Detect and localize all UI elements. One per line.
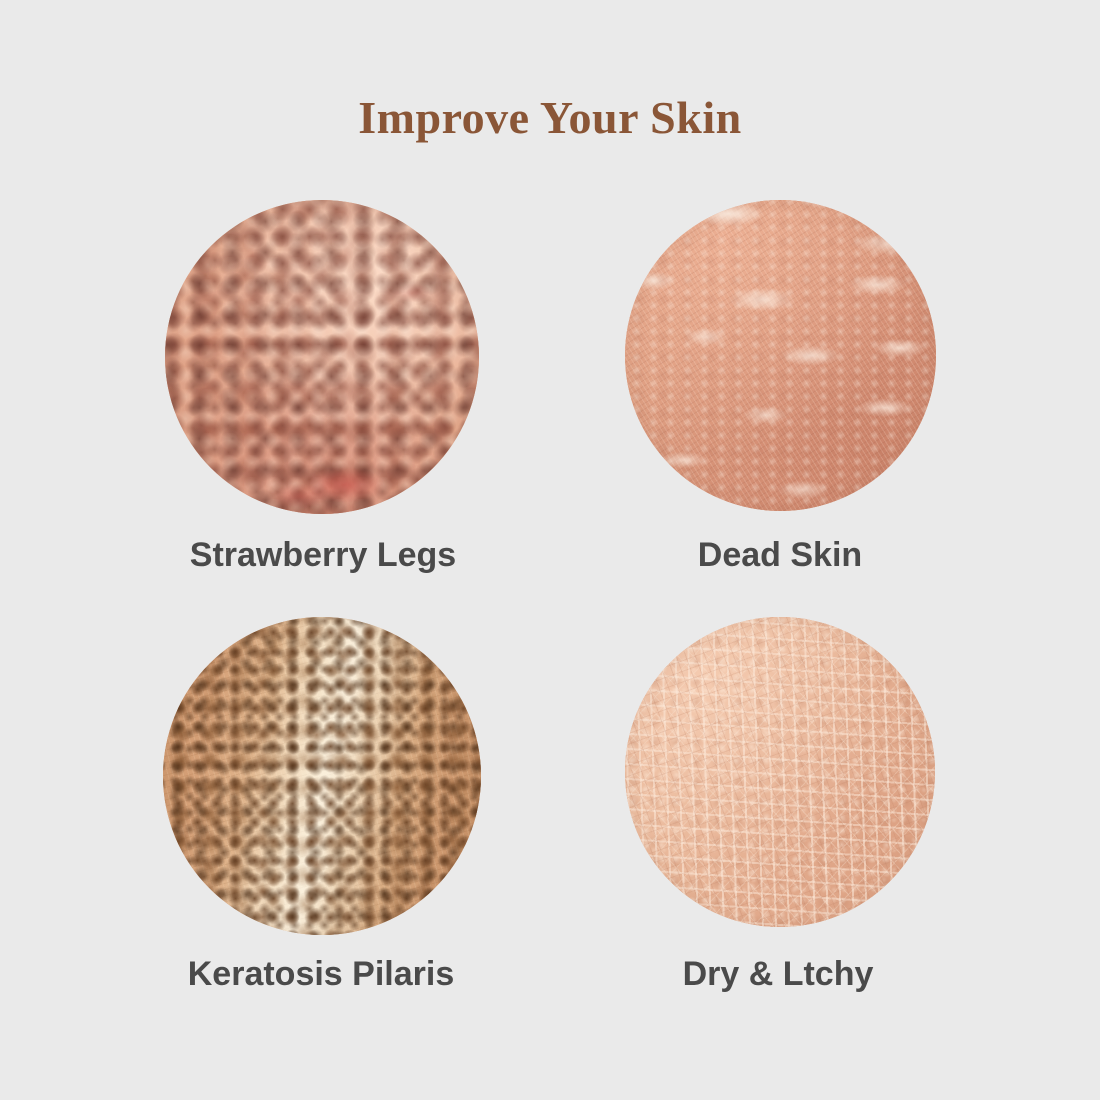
skin-conditions-poster: Improve Your Skin Strawberry Legs (0, 0, 1100, 1100)
dead-skin-photo (625, 200, 936, 511)
condition-card-dead-skin[interactable]: Dead Skin (560, 200, 1000, 516)
swatch-edge-shading (165, 200, 479, 514)
condition-label-dry-itchy: Dry & Ltchy (558, 957, 998, 991)
condition-label-strawberry-legs: Strawberry Legs (103, 538, 543, 572)
swatch-edge-shading (625, 200, 936, 511)
swatch-wrap (101, 617, 541, 933)
swatch-wrap (558, 617, 998, 933)
keratosis-pilaris-skin-photo (163, 617, 481, 935)
condition-label-keratosis-pilaris: Keratosis Pilaris (101, 957, 541, 991)
strawberry-legs-skin-photo (165, 200, 479, 514)
swatch-edge-shading (625, 617, 935, 927)
condition-label-dead-skin: Dead Skin (560, 538, 1000, 572)
dry-itchy-skin-photo (625, 617, 935, 927)
swatch-wrap (103, 200, 543, 516)
condition-card-keratosis-pilaris[interactable]: Keratosis Pilaris (101, 617, 541, 933)
swatch-wrap (560, 200, 1000, 516)
condition-card-strawberry-legs[interactable]: Strawberry Legs (103, 200, 543, 516)
condition-grid: Strawberry Legs Dead Skin (0, 0, 1100, 1100)
condition-card-dry-itchy[interactable]: Dry & Ltchy (558, 617, 998, 933)
swatch-edge-shading (163, 617, 481, 935)
